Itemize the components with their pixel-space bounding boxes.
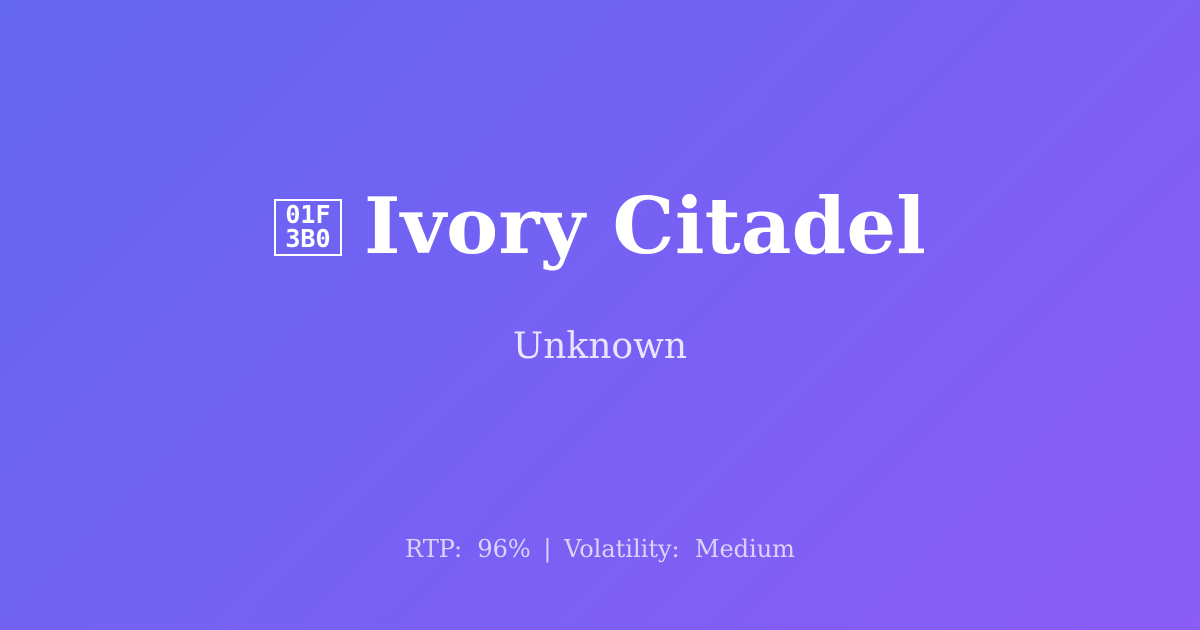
volatility-value: Medium [695,535,795,563]
volatility-label: Volatility: [564,535,680,563]
game-provider-subtitle: Unknown [513,325,687,368]
slot-machine-emoji-icon: 01F 3B0 [274,199,342,256]
rtp-label: RTP: [405,535,462,563]
hero-block: 01F 3B0 Ivory Citadel Unknown [0,0,1200,592]
tofu-codepoint-bottom: 3B0 [285,227,330,252]
meta-separator: | [538,535,556,563]
og-share-card: 01F 3B0 Ivory Citadel Unknown RTP: 96% |… [0,0,1200,630]
game-meta-footer: RTP: 96% | Volatility: Medium [0,534,1200,564]
rtp-value: 96% [477,535,530,563]
page-title: Ivory Citadel [364,186,926,269]
title-row: 01F 3B0 Ivory Citadel [274,186,926,269]
